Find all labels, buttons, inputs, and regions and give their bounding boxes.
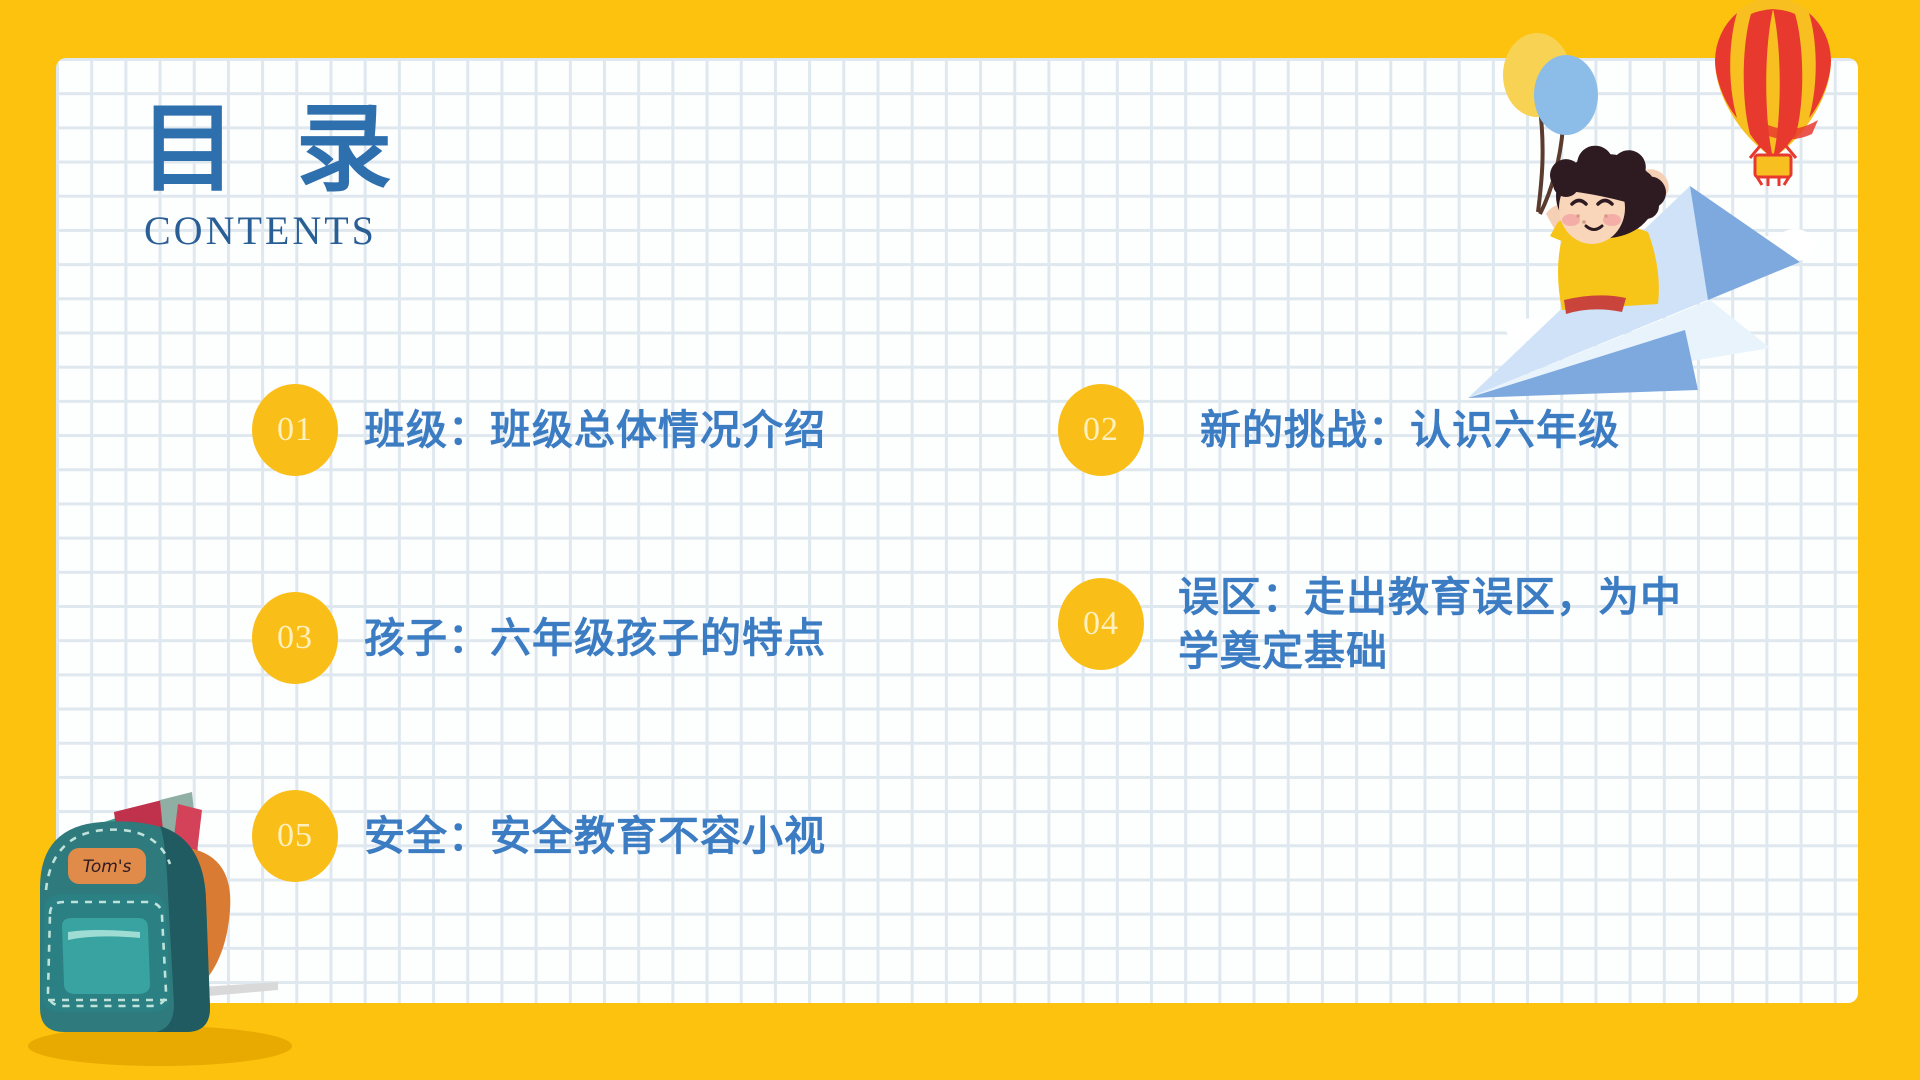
page-title: 目 录 (140, 100, 410, 201)
toc-number-badge: 04 (1058, 578, 1144, 670)
toc-item-04[interactable]: 04 误区：走出教育误区，为中 学奠定基础 (1058, 570, 1848, 678)
backpack-shadow (28, 1026, 292, 1066)
toc-item-label: 新的挑战：认识六年级 (1200, 403, 1620, 457)
toc-number-badge: 05 (252, 790, 338, 882)
toc-item-03[interactable]: 03 孩子：六年级孩子的特点 (252, 592, 826, 684)
page-title-block: 目 录 CONTENTS (140, 100, 410, 254)
toc-item-label: 班级：班级总体情况介绍 (364, 403, 826, 457)
toc-item-01[interactable]: 01 班级：班级总体情况介绍 (252, 384, 826, 476)
toc-item-label: 孩子：六年级孩子的特点 (364, 611, 826, 665)
page-subtitle: CONTENTS (144, 207, 410, 254)
toc-item-05[interactable]: 05 安全：安全教育不容小视 (252, 790, 826, 882)
toc-number-badge: 03 (252, 592, 338, 684)
slide-canvas: 目 录 CONTENTS 01 班级：班级总体情况介绍 02 新的挑战：认识六年… (0, 0, 1920, 1080)
toc-item-label: 误区：走出教育误区，为中 学奠定基础 (1178, 570, 1682, 678)
toc-number-badge: 01 (252, 384, 338, 476)
toc-item-02[interactable]: 02 新的挑战：认识六年级 (1058, 384, 1818, 476)
toc-item-label: 安全：安全教育不容小视 (364, 809, 826, 863)
toc-number-badge: 02 (1058, 384, 1144, 476)
